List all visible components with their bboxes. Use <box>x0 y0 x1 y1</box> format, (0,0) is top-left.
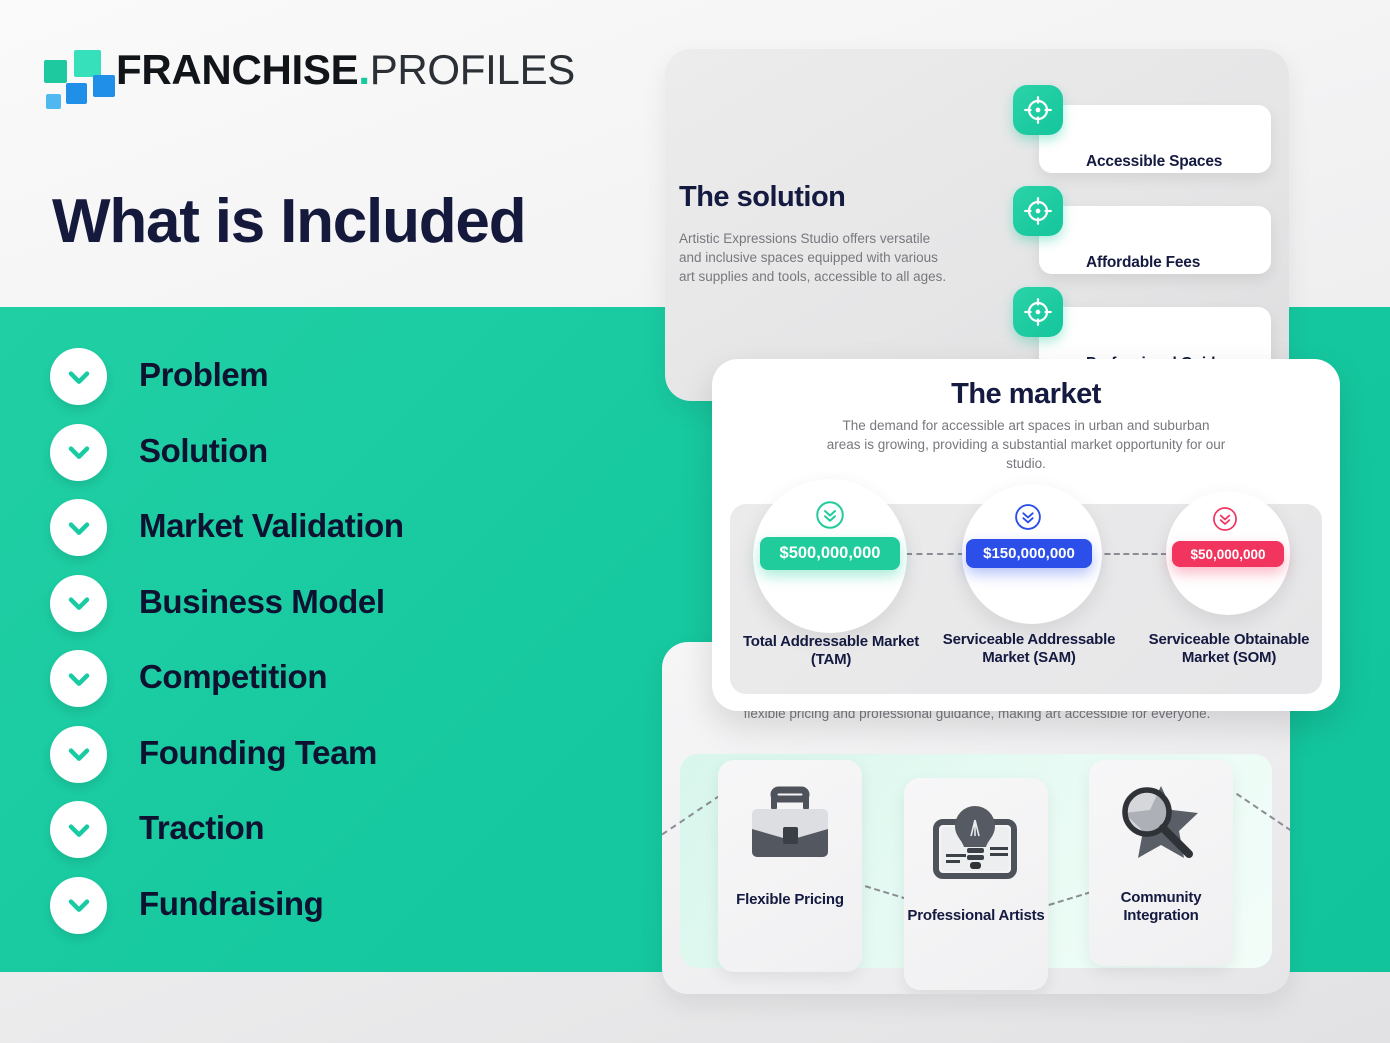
list-item-label: Founding Team <box>139 734 377 772</box>
chevron-down-icon <box>50 877 107 934</box>
briefcase-icon <box>742 784 838 875</box>
market-value-chip: $150,000,000 <box>966 539 1092 568</box>
chevron-down-icon <box>50 348 107 405</box>
brand-logo[interactable]: FRANCHISE.PROFILES <box>44 48 564 110</box>
target-icon <box>1013 85 1063 135</box>
list-item-label: Fundraising <box>139 885 323 923</box>
double-chevron-down-icon <box>815 500 845 530</box>
list-item-label: Problem <box>139 356 268 394</box>
brand-name-light: PROFILES <box>370 46 575 93</box>
chevron-down-icon <box>50 424 107 481</box>
solution-feature-label: Accessible Spaces <box>1086 153 1222 171</box>
list-item[interactable]: Problem <box>50 346 610 422</box>
pictogram-label: Flexible Pricing <box>736 891 844 909</box>
list-item-label: Market Validation <box>139 507 404 545</box>
list-item[interactable]: Founding Team <box>50 724 610 800</box>
list-item[interactable]: Business Model <box>50 573 610 649</box>
pictogram-item[interactable]: Professional Artists <box>904 778 1048 990</box>
market-caption: Total Addressable Market (TAM) <box>732 633 930 670</box>
list-item-label: Business Model <box>139 583 385 621</box>
market-card: The market The demand for accessible art… <box>712 359 1340 711</box>
solution-title: The solution <box>679 181 845 214</box>
chevron-down-icon <box>50 801 107 858</box>
list-item-label: Solution <box>139 432 268 470</box>
market-title: The market <box>712 378 1340 411</box>
market-body: The demand for accessible art spaces in … <box>826 416 1226 473</box>
double-chevron-down-icon <box>1212 506 1238 532</box>
double-chevron-down-icon <box>1014 503 1042 531</box>
pictogram-item[interactable]: Community Integration <box>1089 760 1233 966</box>
pictogram-item[interactable]: Flexible Pricing <box>718 760 862 972</box>
brand-wordmark: FRANCHISE.PROFILES <box>116 46 575 94</box>
market-value-chip: $50,000,000 <box>1172 541 1284 567</box>
list-item-label: Traction <box>139 809 264 847</box>
list-item[interactable]: Fundraising <box>50 875 610 951</box>
list-item-label: Competition <box>139 658 327 696</box>
chevron-down-icon <box>50 650 107 707</box>
list-item[interactable]: Solution <box>50 422 610 498</box>
squares-logo-icon <box>44 50 108 106</box>
market-value-chip: $500,000,000 <box>760 537 900 570</box>
list-item[interactable]: Market Validation <box>50 497 610 573</box>
market-caption: Serviceable Addressable Market (SAM) <box>934 631 1124 668</box>
star-magnifier-icon <box>1109 778 1213 875</box>
solution-body: Artistic Expressions Studio offers versa… <box>679 229 954 286</box>
lightbulb-board-icon <box>926 800 1026 893</box>
brand-name-bold: FRANCHISE <box>116 46 358 93</box>
target-icon <box>1013 186 1063 236</box>
solution-feature-label: Affordable Fees <box>1086 254 1200 272</box>
included-checklist: Problem Solution Market Validation Busin… <box>50 346 610 950</box>
pictogram-label: Community Integration <box>1089 889 1233 925</box>
pictogram-label: Professional Artists <box>907 907 1044 925</box>
page-title: What is Included <box>52 186 525 257</box>
market-connector-1 <box>906 553 964 555</box>
chevron-down-icon <box>50 499 107 556</box>
list-item[interactable]: Traction <box>50 799 610 875</box>
target-icon <box>1013 287 1063 337</box>
chevron-down-icon <box>50 726 107 783</box>
slide-canvas: FRANCHISE.PROFILES What is Included Prob… <box>0 0 1390 1043</box>
solution-card: The solution Artistic Expressions Studio… <box>665 49 1289 401</box>
market-caption: Serviceable Obtainable Market (SOM) <box>1134 631 1324 668</box>
brand-name-dot: . <box>358 46 369 93</box>
market-connector-2 <box>1095 553 1167 555</box>
list-item[interactable]: Competition <box>50 648 610 724</box>
chevron-down-icon <box>50 575 107 632</box>
